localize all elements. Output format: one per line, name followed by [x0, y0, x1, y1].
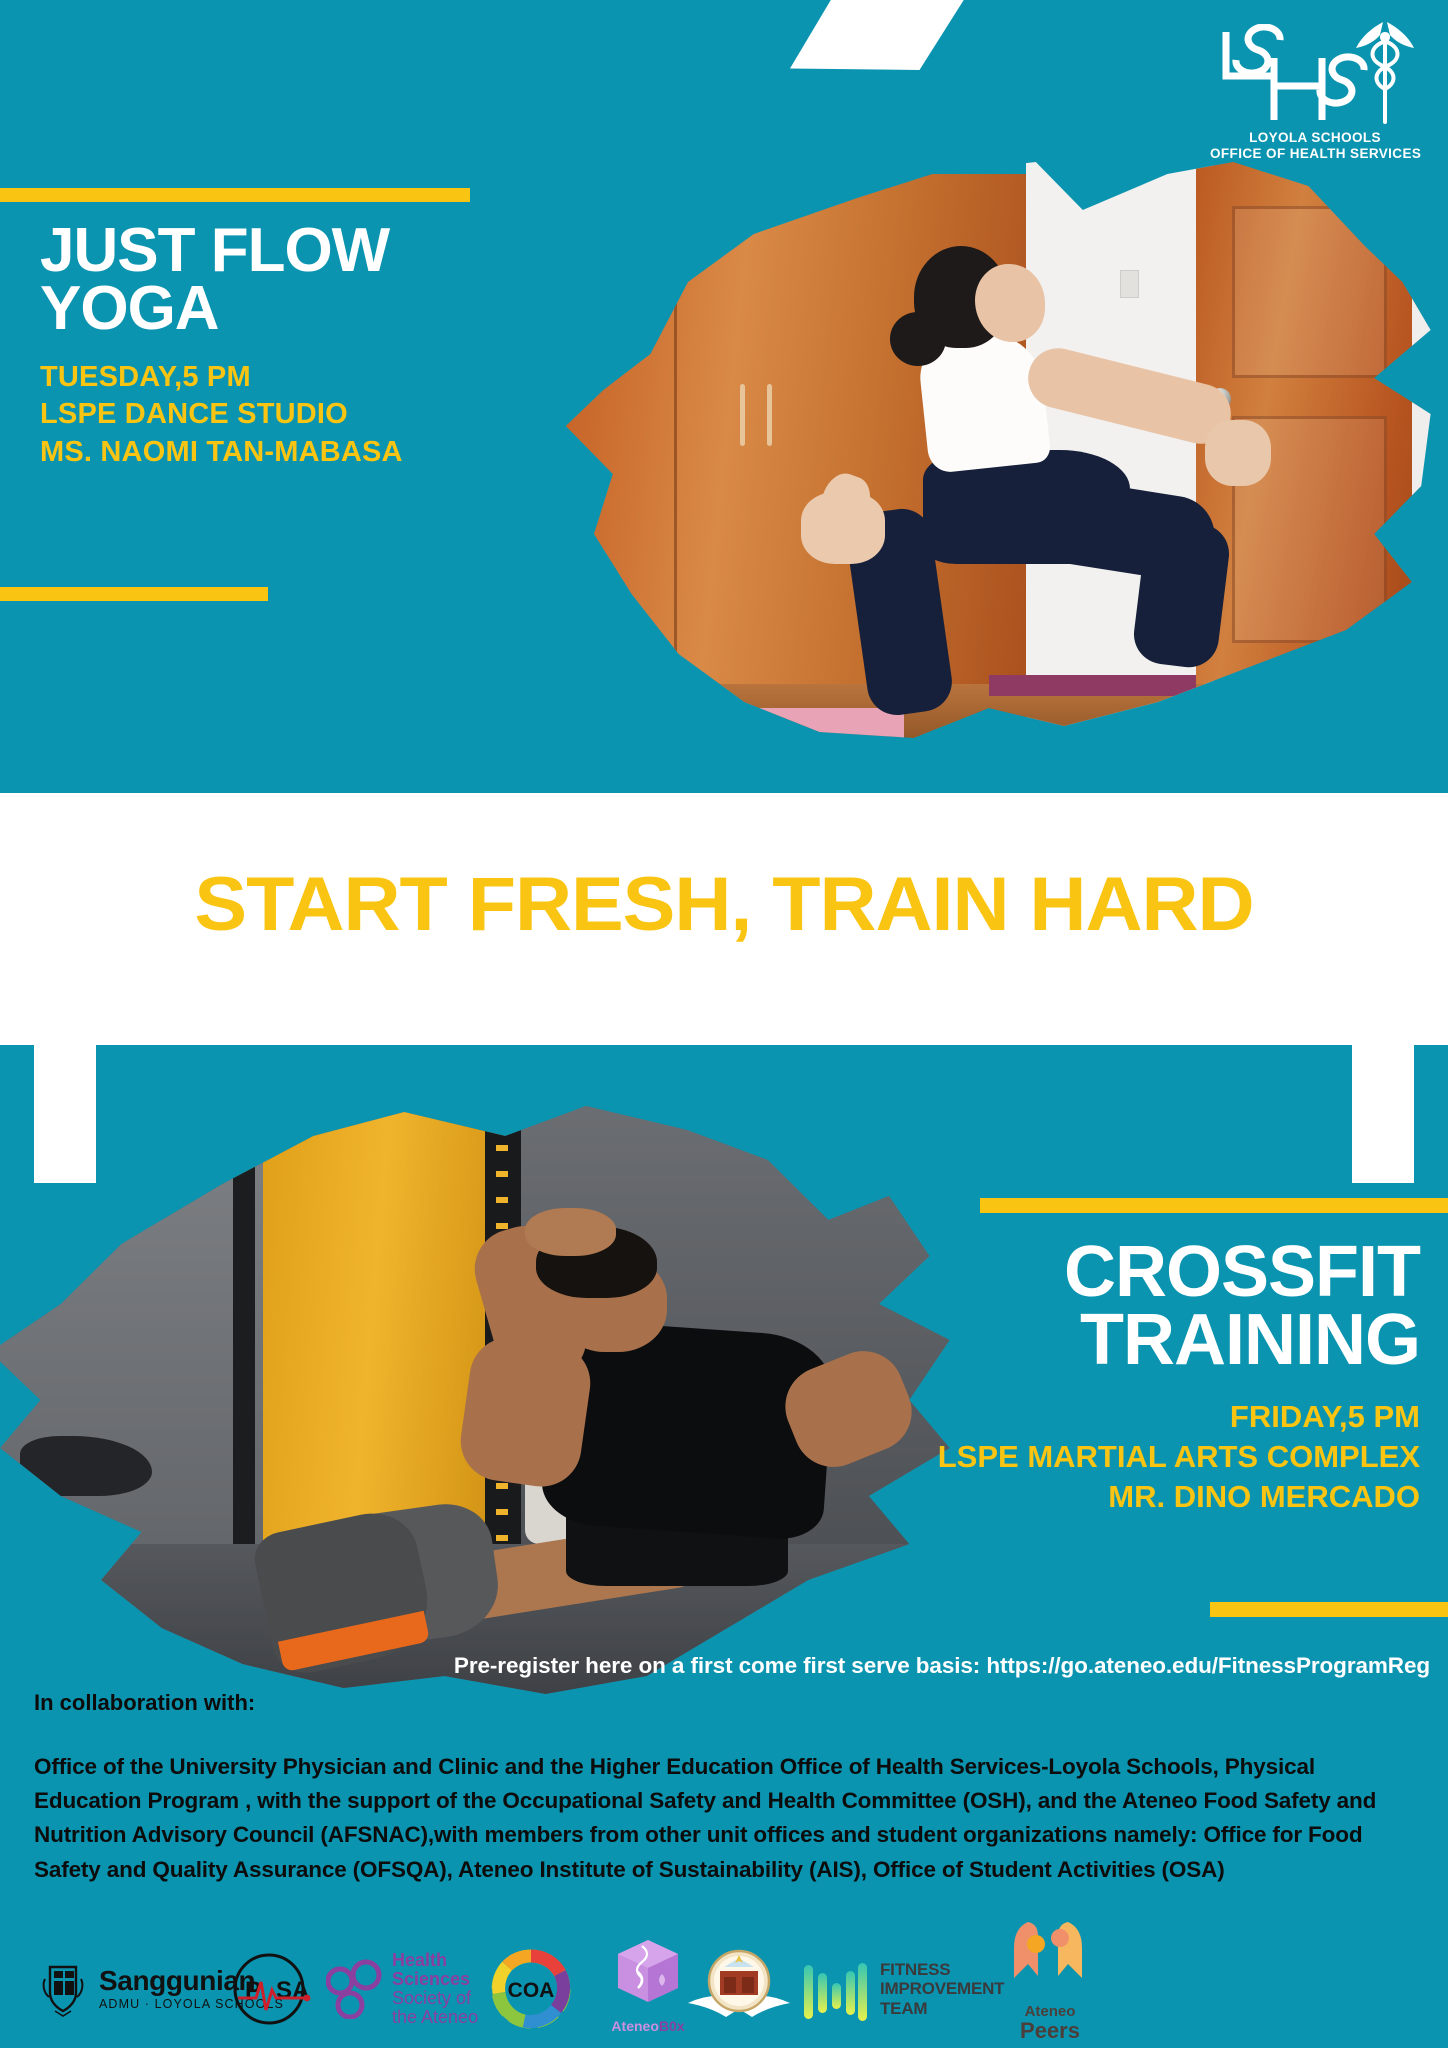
- poster-canvas: LOYOLA SCHOOLS OFFICE OF HEALTH SERVICES…: [0, 0, 1448, 2048]
- yellow-rule-below-yoga: [0, 587, 268, 601]
- lshs-mark: [1210, 18, 1420, 128]
- yogi-right-hand: [1205, 420, 1271, 486]
- hsa-circles-icon: [326, 1959, 384, 2019]
- yellow-rule-above-crossfit: [980, 1198, 1448, 1213]
- peers-text: Ateneo Peers: [990, 2004, 1110, 2042]
- hsa-text: Health Sciences Society of the Ateneo: [392, 1951, 478, 2027]
- preregister-link-text[interactable]: Pre-register here on a first come first …: [0, 1653, 1430, 1679]
- crossfit-title-line2: TRAINING: [680, 1306, 1420, 1374]
- crossfit-title-line1: CROSSFIT: [680, 1238, 1420, 1306]
- gym-yellow-pillar: [263, 1100, 505, 1580]
- crossfit-instructor: MR. DINO MERCADO: [680, 1477, 1420, 1517]
- fit-line2: IMPROVEMENT: [880, 1979, 1004, 1998]
- light-switch: [1120, 270, 1139, 298]
- ateneo-seal-logo: [680, 1930, 798, 2048]
- ateneobox-label-a: Ateneo: [611, 2018, 658, 2034]
- hsa-line4: the Ateneo: [392, 2008, 478, 2027]
- peers-figures-icon: [1006, 1918, 1092, 1990]
- yoga-title: JUST FLOW YOGA: [40, 222, 560, 339]
- crossfit-info-block: CROSSFIT TRAINING FRIDAY,5 PM LSPE MARTI…: [680, 1238, 1420, 1518]
- lshs-subtitle-line1: LOYOLA SCHOOLS: [1210, 130, 1420, 146]
- fit-bars-icon: [800, 1953, 870, 2025]
- yoga-details: TUESDAY,5 PM LSPE DANCE STUDIO MS. NAOMI…: [40, 359, 560, 472]
- yoga-venue: LSPE DANCE STUDIO: [40, 396, 560, 434]
- crossfit-title: CROSSFIT TRAINING: [680, 1238, 1420, 1375]
- peers-line2: Peers: [990, 2020, 1110, 2042]
- coa-icon: COA: [488, 1946, 574, 2032]
- left-white-notch: [34, 1045, 96, 1183]
- crossfit-schedule: FRIDAY,5 PM: [680, 1397, 1420, 1437]
- yoga-info-block: JUST FLOW YOGA TUESDAY,5 PM LSPE DANCE S…: [40, 222, 560, 472]
- yoga-instructor: MS. NAOMI TAN-MABASA: [40, 434, 560, 472]
- yoga-title-line2: YOGA: [40, 280, 560, 338]
- lshs-monogram-icon: [1218, 24, 1368, 124]
- yoga-schedule: TUESDAY,5 PM: [40, 359, 560, 397]
- purple-mat: [989, 675, 1196, 696]
- fit-line3: TEAM: [880, 1999, 1004, 2018]
- hsa-line2: Sciences: [392, 1970, 478, 1989]
- health-sciences-society-logo: Health Sciences Society of the Ateneo: [326, 1930, 478, 2048]
- coa-label: COA: [508, 1979, 555, 2002]
- pmsa-icon: P SA: [228, 1946, 314, 2032]
- yellow-rule-below-crossfit: [1210, 1602, 1448, 1617]
- ateneobox-cube-icon: [612, 1936, 684, 2014]
- right-white-notch: [1352, 1045, 1414, 1183]
- lshs-subtitle-line2: OFFICE OF HEALTH SERVICES: [1210, 146, 1420, 162]
- yoga-title-line1: JUST FLOW: [40, 222, 560, 280]
- crossfit-venue: LSPE MARTIAL ARTS COMPLEX: [680, 1437, 1420, 1477]
- lshs-subtitle: LOYOLA SCHOOLS OFFICE OF HEALTH SERVICES: [1210, 130, 1420, 162]
- athlete-hand: [525, 1208, 616, 1256]
- lshs-logo: LOYOLA SCHOOLS OFFICE OF HEALTH SERVICES: [1210, 18, 1420, 168]
- collaboration-label: In collaboration with:: [34, 1690, 255, 1716]
- hsa-line3: Society of: [392, 1989, 478, 2008]
- caduceus-icon: [1354, 18, 1416, 130]
- poster-headline: START FRESH, TRAIN HARD: [0, 861, 1448, 948]
- coa-logo: COA: [488, 1930, 574, 2048]
- ateneo-seal-icon: [680, 1945, 798, 2033]
- hsa-line1: Health: [392, 1951, 478, 1970]
- crossfit-details: FRIDAY,5 PM LSPE MARTIAL ARTS COMPLEX MR…: [680, 1397, 1420, 1518]
- pmsa-logo: P SA: [228, 1930, 314, 2048]
- partner-logo-row: Sanggunian ADMU · LOYOLA SCHOOLS P SA He…: [0, 1930, 1448, 2048]
- ateneo-peers-logo: Ateneo Peers: [990, 1930, 1110, 2048]
- collaboration-body: Office of the University Physician and C…: [34, 1750, 1424, 1887]
- fit-text: FITNESS IMPROVEMENT TEAM: [880, 1960, 1004, 2017]
- sanggunian-shield-icon: [36, 1961, 90, 2017]
- yellow-rule-top: [0, 188, 470, 202]
- fit-line1: FITNESS: [880, 1960, 1004, 1979]
- fitness-improvement-team-logo: FITNESS IMPROVEMENT TEAM: [800, 1930, 1004, 2048]
